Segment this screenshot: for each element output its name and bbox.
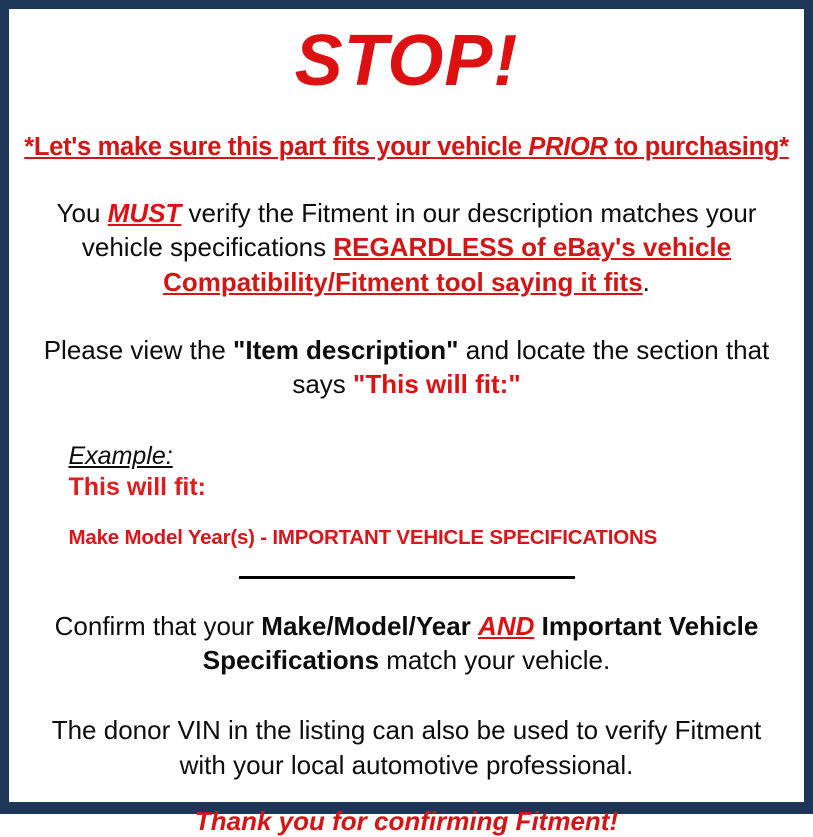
paragraph-must: You MUST verify the Fitment in our descr… (27, 196, 787, 299)
paragraph-vin: The donor VIN in the listing can also be… (27, 713, 787, 782)
confirm-and: AND (478, 611, 534, 641)
must-emphasis: MUST (108, 198, 182, 228)
fitment-notice-frame: STOP! *Let's make sure this part fits yo… (0, 0, 813, 814)
tagline-before: *Let's make sure this part fits your veh… (24, 133, 528, 161)
confirm-seg2: match your vehicle. (379, 645, 610, 675)
confirm-bold1: Make/Model/Year (261, 611, 478, 641)
example-block: Example: This will fit: Make Model Year(… (27, 442, 787, 550)
example-label: Example: (69, 442, 173, 471)
page-title: STOP! (295, 25, 519, 97)
tagline: *Let's make sure this part fits your veh… (24, 133, 789, 162)
tagline-emphasis: PRIOR (528, 133, 607, 161)
example-label-row: Example: (69, 442, 787, 471)
closing-message: Thank you for confirming Fitment! (195, 806, 618, 837)
desc-seg1: Please view the (44, 335, 233, 365)
example-fit-heading: This will fit: (69, 473, 787, 502)
section-divider (239, 576, 575, 579)
must-seg1: You (57, 198, 108, 228)
divider-wrap (17, 576, 796, 579)
must-seg3: . (643, 267, 650, 297)
example-spec-line: Make Model Year(s) - IMPORTANT VEHICLE S… (69, 526, 787, 550)
desc-this-will-fit: "This will fit:" (353, 369, 521, 399)
paragraph-description: Please view the "Item description" and l… (27, 333, 787, 402)
paragraph-confirm: Confirm that your Make/Model/Year AND Im… (27, 609, 787, 678)
desc-item-description: "Item description" (233, 335, 458, 365)
notice-inner: STOP! *Let's make sure this part fits yo… (9, 9, 804, 802)
confirm-seg1: Confirm that your (55, 611, 262, 641)
tagline-after: to purchasing* (608, 133, 789, 161)
